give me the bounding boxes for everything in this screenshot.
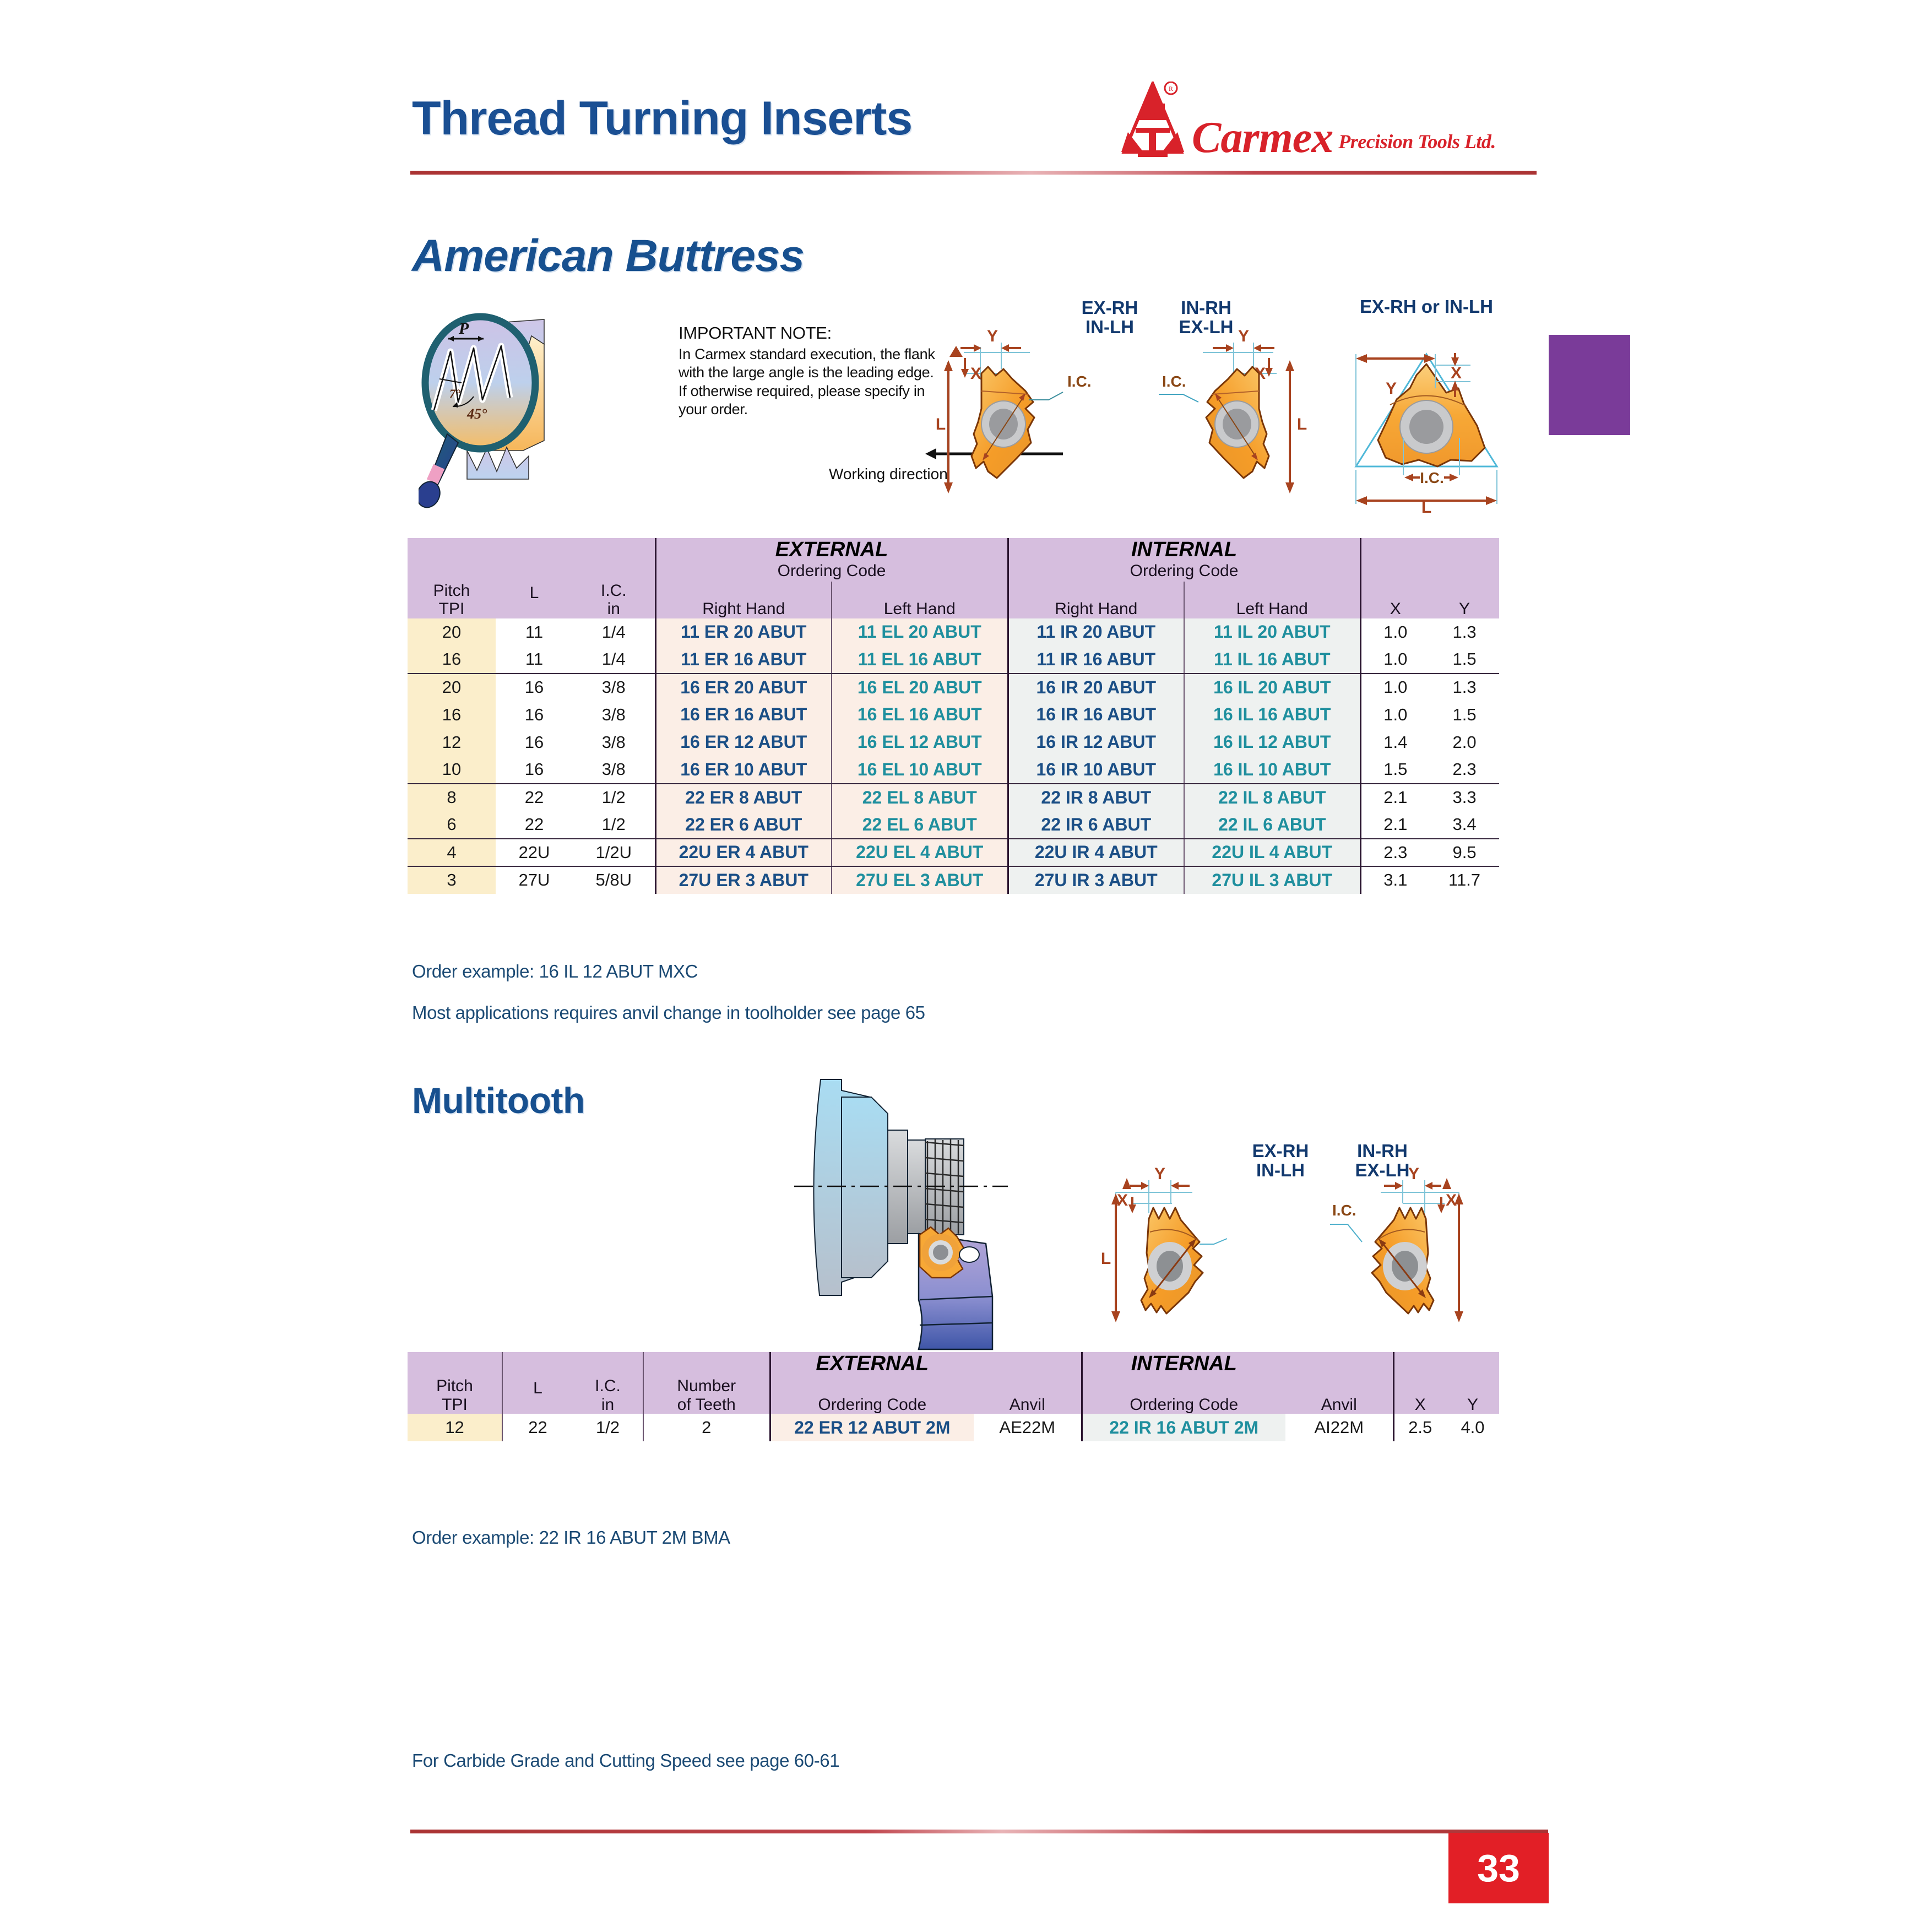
mt-header-spacer-pitch (408, 1352, 502, 1377)
cell-y: 9.5 (1430, 839, 1499, 866)
cell-external-right-hand: 22 ER 8 ABUT (655, 784, 832, 811)
svg-text:L: L (936, 415, 946, 433)
header-ext-left-hand: Left Hand (832, 582, 1008, 618)
section-title-multitooth: Multitooth (412, 1079, 585, 1121)
table-header-row: Pitch TPI L I.C. in Right Hand Left Hand… (408, 582, 1499, 618)
header-divider (410, 171, 1537, 175)
cell-x: 1.0 (1360, 701, 1430, 729)
cell-external-left-hand: 11 EL 20 ABUT (832, 618, 1008, 646)
buttress-table: EXTERNAL INTERNAL Ordering Code Ordering… (408, 538, 1499, 894)
cell-external-left-hand: 16 EL 20 ABUT (832, 674, 1008, 701)
table-row: 20111/411 ER 20 ABUT11 EL 20 ABUT11 IR 2… (408, 618, 1499, 646)
working-direction-label: Working direction (829, 465, 948, 483)
svg-text:Y: Y (1386, 379, 1397, 398)
buttress-anvil-note: Most applications requires anvil change … (412, 1002, 925, 1023)
mt-header-teeth: Number of Teeth (643, 1377, 770, 1414)
cell-l: 22U (496, 839, 573, 866)
cell-y: 3.3 (1430, 784, 1499, 811)
cell-x: 2.1 (1360, 784, 1430, 811)
cell-x: 2.3 (1360, 839, 1430, 866)
cell-x: 2.1 (1360, 811, 1430, 839)
cell-y: 2.0 (1430, 729, 1499, 756)
table-row: 16111/411 ER 16 ABUT11 EL 16 ABUT11 IR 1… (408, 646, 1499, 674)
page-number-badge: 33 (1448, 1833, 1549, 1903)
cell-external-left-hand: 22U EL 4 ABUT (832, 839, 1008, 866)
cell-external-right-hand: 22 ER 6 ABUT (655, 811, 832, 839)
mt-header-teeth-line1: Number (644, 1377, 769, 1396)
cell-ic: 1/2 (573, 811, 655, 839)
cell-internal-right-hand: 16 IR 10 ABUT (1008, 756, 1184, 784)
cell-external-left-hand: 16 EL 12 ABUT (832, 729, 1008, 756)
cell-pitch: 20 (408, 674, 496, 701)
mt-header-ic-line1: I.C. (573, 1377, 643, 1396)
mt-header-pitch-line1: Pitch (408, 1377, 502, 1396)
header-ic: I.C. in (573, 582, 655, 618)
cell-y: 1.5 (1430, 701, 1499, 729)
insert-diagram-triangle: Y X I.C. L (1322, 322, 1531, 515)
header-pitch-line2: TPI (408, 600, 496, 618)
cell-internal-right-hand: 22U IR 4 ABUT (1008, 839, 1184, 866)
svg-text:L: L (1421, 498, 1431, 515)
multitooth-application-illustration (788, 1068, 1096, 1355)
cell-l: 22 (496, 811, 573, 839)
mt-header-spacer-x (1393, 1352, 1446, 1377)
cell-y: 1.3 (1430, 618, 1499, 646)
svg-text:L: L (1297, 415, 1307, 433)
cell-external-left-hand: 11 EL 16 ABUT (832, 646, 1008, 674)
cell-internal-right-hand: 16 IR 20 ABUT (1008, 674, 1184, 701)
cell-ic: 1/2U (573, 839, 655, 866)
cell-ic: 3/8 (573, 701, 655, 729)
header-spacer-y (1430, 538, 1499, 582)
table-row: 10163/816 ER 10 ABUT16 EL 10 ABUT16 IR 1… (408, 756, 1499, 784)
table-row: 16163/816 ER 16 ABUT16 EL 16 ABUT16 IR 1… (408, 701, 1499, 729)
cell-ic: 1/2 (573, 1414, 643, 1441)
cell-external-right-hand: 16 ER 16 ABUT (655, 701, 832, 729)
cell-l: 11 (496, 646, 573, 674)
cell-x: 1.0 (1360, 646, 1430, 674)
header-spacer-pitch (408, 538, 496, 582)
cell-internal-left-hand: 16 IL 12 ABUT (1184, 729, 1360, 756)
header-pitch: Pitch TPI (408, 582, 496, 618)
section-color-tab (1549, 335, 1630, 435)
header-spacer-l (496, 538, 573, 582)
cell-internal-left-hand: 22U IL 4 ABUT (1184, 839, 1360, 866)
cell-external-right-hand: 22U ER 4 ABUT (655, 839, 832, 866)
cell-x: 1.4 (1360, 729, 1430, 756)
cell-pitch: 3 (408, 866, 496, 894)
cell-x: 1.0 (1360, 618, 1430, 646)
cell-internal-left-hand: 16 IL 16 ABUT (1184, 701, 1360, 729)
important-note: IMPORTANT NOTE: In Carmex standard execu… (679, 323, 937, 419)
cell-l: 16 (496, 674, 573, 701)
svg-text:7°: 7° (449, 387, 460, 400)
cell-internal-left-hand: 16 IL 20 ABUT (1184, 674, 1360, 701)
cell-l: 11 (496, 618, 573, 646)
important-note-heading: IMPORTANT NOTE: (679, 323, 937, 343)
insert-diagram-ex-rh-in-lh: Y X L I.C. (931, 314, 1090, 507)
mt-header-int-ordering-code: Ordering Code (1082, 1377, 1285, 1414)
cell-internal-right-hand: 16 IR 16 ABUT (1008, 701, 1184, 729)
table-row: 8221/222 ER 8 ABUT22 EL 8 ABUT22 IR 8 AB… (408, 784, 1499, 811)
cell-y: 3.4 (1430, 811, 1499, 839)
table-row: 422U1/2U22U ER 4 ABUT22U EL 4 ABUT22U IR… (408, 839, 1499, 866)
cell-l: 16 (496, 756, 573, 784)
cell-number-of-teeth: 2 (643, 1414, 770, 1441)
cell-internal-right-hand: 22 IR 6 ABUT (1008, 811, 1184, 839)
svg-text:R: R (1169, 85, 1173, 93)
cell-external-right-hand: 16 ER 10 ABUT (655, 756, 832, 784)
svg-text:I.C.: I.C. (1420, 469, 1444, 486)
cell-external-left-hand: 22 EL 6 ABUT (832, 811, 1008, 839)
svg-text:X: X (970, 365, 981, 383)
header-x: X (1360, 582, 1430, 618)
svg-text:X: X (1451, 364, 1462, 382)
cell-l: 22 (502, 1414, 573, 1441)
svg-text:Y: Y (1408, 1165, 1419, 1183)
mt-header-spacer-ext-anvil (974, 1352, 1082, 1377)
cell-external-left-hand: 27U EL 3 ABUT (832, 866, 1008, 894)
cell-l: 22 (496, 784, 573, 811)
cell-internal-right-hand: 27U IR 3 ABUT (1008, 866, 1184, 894)
cell-pitch: 4 (408, 839, 496, 866)
mt-header-spacer-y (1446, 1352, 1499, 1377)
cell-pitch: 16 (408, 646, 496, 674)
svg-text:45°: 45° (466, 406, 487, 422)
mt-header-row: Pitch TPI L I.C. in Number of Teeth Orde… (408, 1377, 1499, 1414)
cell-l: 16 (496, 701, 573, 729)
mt-header-ic: I.C. in (573, 1377, 643, 1414)
cell-external-ordering-code: 22 ER 12 ABUT 2M (770, 1414, 974, 1441)
mt-header-l: L (502, 1377, 573, 1414)
svg-text:I.C.: I.C. (1332, 1202, 1356, 1219)
carmex-tagline: Precision Tools Ltd. (1338, 130, 1496, 159)
table-header-group-row: EXTERNAL INTERNAL (408, 538, 1499, 562)
cell-y: 11.7 (1430, 866, 1499, 894)
mt-header-int-anvil: Anvil (1285, 1377, 1393, 1414)
mt-header-ext-ordering-code: Ordering Code (770, 1377, 974, 1414)
header-pitch-line1: Pitch (408, 582, 496, 600)
cell-internal-ordering-code: 22 IR 16 ABUT 2M (1082, 1414, 1285, 1441)
mt-header-group-row: EXTERNAL INTERNAL (408, 1352, 1499, 1376)
cell-internal-left-hand: 16 IL 10 ABUT (1184, 756, 1360, 784)
page-title: Thread Turning Inserts (412, 91, 912, 146)
multitooth-order-example: Order example: 22 IR 16 ABUT 2M BMA (412, 1527, 730, 1548)
svg-text:L: L (1101, 1250, 1111, 1268)
cell-internal-left-hand: 22 IL 8 ABUT (1184, 784, 1360, 811)
cell-l: 16 (496, 729, 573, 756)
important-note-body: In Carmex standard execution, the flank … (679, 345, 937, 419)
cell-internal-right-hand: 11 IR 16 ABUT (1008, 646, 1184, 674)
cell-internal-left-hand: 27U IL 3 ABUT (1184, 866, 1360, 894)
mt-header-x: X (1393, 1377, 1446, 1414)
cell-external-left-hand: 16 EL 16 ABUT (832, 701, 1008, 729)
cell-pitch: 12 (408, 729, 496, 756)
cell-internal-right-hand: 11 IR 20 ABUT (1008, 618, 1184, 646)
carmex-logo-mark-icon: R (1119, 82, 1186, 159)
mt-header-spacer-int-anvil (1285, 1352, 1393, 1377)
cell-x: 3.1 (1360, 866, 1430, 894)
header-int-right-hand: Right Hand (1008, 582, 1184, 618)
cell-internal-left-hand: 11 IL 16 ABUT (1184, 646, 1360, 674)
header-internal-ordering-code: Ordering Code (1008, 562, 1360, 582)
cell-external-right-hand: 27U ER 3 ABUT (655, 866, 832, 894)
mt-header-spacer-ic (573, 1352, 643, 1377)
cell-internal-left-hand: 22 IL 6 ABUT (1184, 811, 1360, 839)
svg-text:Y: Y (1238, 327, 1249, 345)
cell-y: 1.3 (1430, 674, 1499, 701)
svg-text:P: P (458, 319, 469, 338)
table-row: 327U5/8U27U ER 3 ABUT27U EL 3 ABUT27U IR… (408, 866, 1499, 894)
carmex-logo: R Carmex Precision Tools Ltd. (1119, 82, 1496, 159)
thread-profile-illustration: P 7° 45° (419, 303, 677, 523)
cell-external-left-hand: 16 EL 10 ABUT (832, 756, 1008, 784)
cell-external-right-hand: 16 ER 20 ABUT (655, 674, 832, 701)
mt-header-teeth-line2: of Teeth (644, 1396, 769, 1414)
header-l: L (496, 582, 573, 618)
cell-ic: 5/8U (573, 866, 655, 894)
cell-external-left-hand: 22 EL 8 ABUT (832, 784, 1008, 811)
footer-divider (410, 1830, 1548, 1833)
cell-ic: 1/4 (573, 646, 655, 674)
mt-header-y: Y (1446, 1377, 1499, 1414)
header-spacer-x (1360, 538, 1430, 582)
cell-ic: 3/8 (573, 756, 655, 784)
header-spacer-ic (573, 538, 655, 582)
header-external: EXTERNAL (655, 538, 1008, 562)
cell-internal-right-hand: 22 IR 8 ABUT (1008, 784, 1184, 811)
header-int-left-hand: Left Hand (1184, 582, 1360, 618)
cell-pitch: 20 (408, 618, 496, 646)
header-ic-line2: in (573, 600, 655, 618)
cell-external-anvil: AE22M (974, 1414, 1082, 1441)
cell-ic: 1/4 (573, 618, 655, 646)
mt-header-ic-line2: in (573, 1396, 643, 1414)
cell-internal-right-hand: 16 IR 12 ABUT (1008, 729, 1184, 756)
page-number: 33 (1477, 1846, 1520, 1890)
mt-insert-diagram-ex-rh-in-lh: Y X L (1096, 1148, 1261, 1336)
cell-pitch: 12 (408, 1414, 502, 1441)
cell-x: 1.5 (1360, 756, 1430, 784)
mt-header-external: EXTERNAL (770, 1352, 974, 1376)
header-ic-line1: I.C. (573, 582, 655, 600)
table-row: 12221/2222 ER 12 ABUT 2MAE22M22 IR 16 AB… (408, 1414, 1499, 1441)
cell-internal-left-hand: 11 IL 20 ABUT (1184, 618, 1360, 646)
header-external-ordering-code: Ordering Code (655, 562, 1008, 582)
buttress-order-example: Order example: 16 IL 12 ABUT MXC (412, 961, 698, 982)
cell-external-right-hand: 11 ER 16 ABUT (655, 646, 832, 674)
cell-internal-anvil: AI22M (1285, 1414, 1393, 1441)
svg-text:I.C.: I.C. (1162, 373, 1186, 390)
header-y: Y (1430, 582, 1499, 618)
cell-x: 2.5 (1393, 1414, 1446, 1441)
cell-external-right-hand: 11 ER 20 ABUT (655, 618, 832, 646)
cell-y: 4.0 (1446, 1414, 1499, 1441)
carbide-grade-note: For Carbide Grade and Cutting Speed see … (412, 1750, 839, 1771)
cell-pitch: 16 (408, 701, 496, 729)
mt-header-pitch-line2: TPI (408, 1396, 502, 1414)
insert-label-ex-rh-or-in-lh: EX-RH or IN-LH (1344, 297, 1509, 317)
svg-text:Y: Y (987, 327, 998, 345)
cell-ic: 3/8 (573, 729, 655, 756)
mt-header-pitch: Pitch TPI (408, 1377, 502, 1414)
cell-l: 27U (496, 866, 573, 894)
cell-external-right-hand: 16 ER 12 ABUT (655, 729, 832, 756)
mt-header-internal: INTERNAL (1082, 1352, 1285, 1376)
insert-diagram-in-rh-ex-lh: I.C. Y X L (1146, 314, 1311, 507)
cell-y: 2.3 (1430, 756, 1499, 784)
cell-pitch: 10 (408, 756, 496, 784)
cell-y: 1.5 (1430, 646, 1499, 674)
cell-pitch: 6 (408, 811, 496, 839)
cell-ic: 1/2 (573, 784, 655, 811)
svg-text:X: X (1446, 1191, 1457, 1209)
section-title-american-buttress: American Buttress (412, 230, 804, 282)
header-ext-right-hand: Right Hand (655, 582, 832, 618)
mt-header-ext-anvil: Anvil (974, 1377, 1082, 1414)
cell-ic: 3/8 (573, 674, 655, 701)
table-row: 12163/816 ER 12 ABUT16 EL 12 ABUT16 IR 1… (408, 729, 1499, 756)
carmex-wordmark: Carmex (1192, 117, 1333, 159)
svg-text:Y: Y (1154, 1165, 1165, 1183)
cell-x: 1.0 (1360, 674, 1430, 701)
mt-header-spacer-teeth (643, 1352, 770, 1377)
cell-pitch: 8 (408, 784, 496, 811)
table-row: 20163/816 ER 20 ABUT16 EL 20 ABUT16 IR 2… (408, 674, 1499, 701)
header-internal: INTERNAL (1008, 538, 1360, 562)
table-row: 6221/222 ER 6 ABUT22 EL 6 ABUT22 IR 6 AB… (408, 811, 1499, 839)
svg-text:I.C.: I.C. (1067, 373, 1090, 390)
mt-insert-diagram-in-rh-ex-lh: I.C. Y X (1319, 1148, 1490, 1336)
multitooth-table: EXTERNAL INTERNAL Pitch TPI L I.C. in Nu… (408, 1352, 1499, 1441)
mt-header-spacer-l (502, 1352, 573, 1377)
